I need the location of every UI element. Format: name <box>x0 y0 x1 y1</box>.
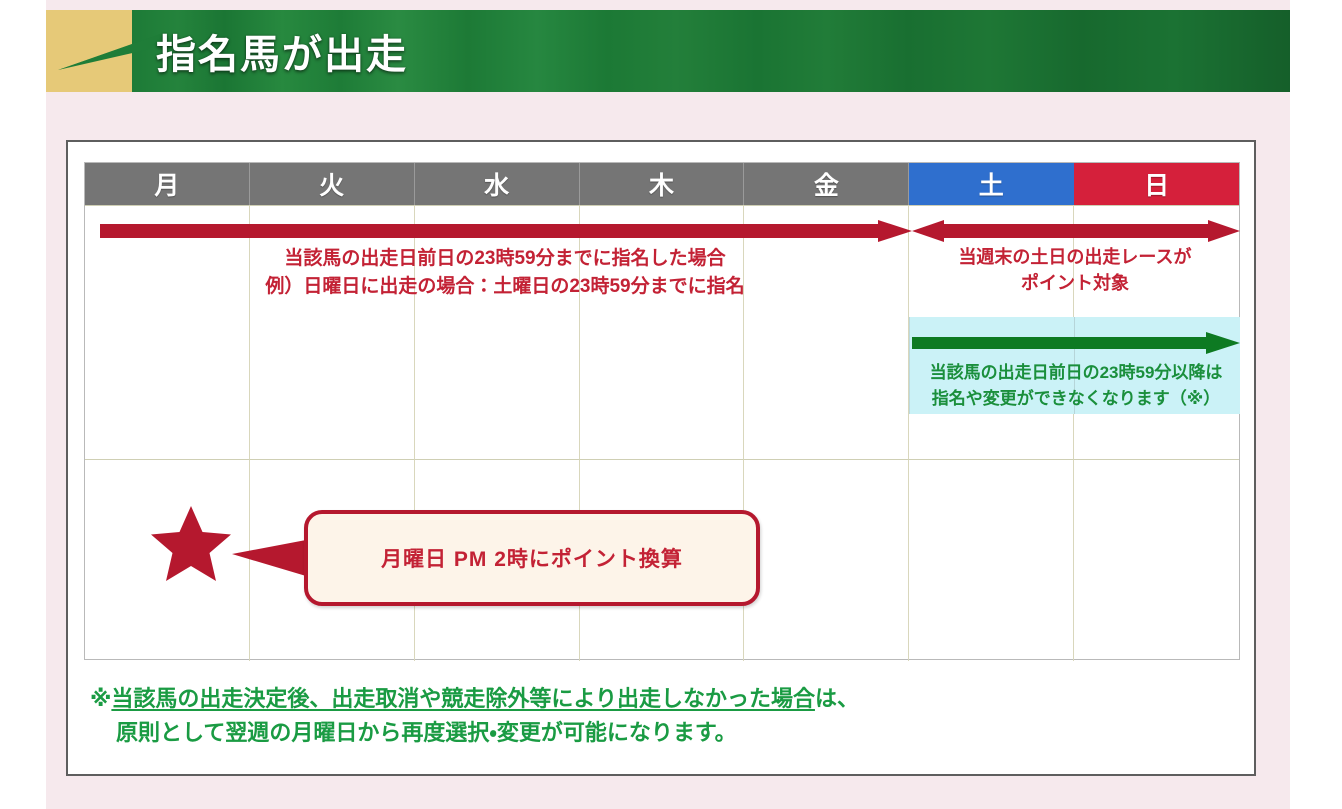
calendar-cell-bottom-sun <box>1074 459 1239 661</box>
footer-note-suffix: は、 <box>815 686 859 711</box>
callout-tail-icon <box>232 534 312 580</box>
footer-note-line-1: ※当該馬の出走決定後、出走取消や競走除外等により出走しなかった場合は、 <box>90 682 1230 716</box>
footer-note: ※当該馬の出走決定後、出走取消や競走除外等により出走しなかった場合は、 原則とし… <box>90 682 1230 750</box>
weekday-rule-text: 当該馬の出走日前日の23時59分までに指名した場合 例）日曜日に出走の場合：土曜… <box>100 245 910 300</box>
weekend-point-target-text: 当週末の土日の出走レースが ポイント対象 <box>912 244 1238 296</box>
footer-note-marker: ※ <box>90 686 111 711</box>
point-conversion-callout: 月曜日 PM 2時にポイント換算 <box>294 510 760 606</box>
calendar-cell-mid-tue <box>250 205 415 459</box>
footer-note-line-2: 原則として翌週の月曜日から再度選択・変更が可能になります。 <box>90 716 1230 750</box>
weekend-restriction-text: 当該馬の出走日前日の23時59分以降は 指名や変更ができなくなります（※） <box>914 360 1238 413</box>
calendar-cell-bottom-fri <box>744 459 909 661</box>
calendar-cell-mid-mon <box>85 205 250 459</box>
footer-note-underlined: 当該馬の出走決定後、出走取消や競走除外等により出走しなかった場合 <box>111 686 815 711</box>
calendar-header-wed: 水 <box>415 163 580 205</box>
calendar-header-tue: 火 <box>250 163 415 205</box>
weekly-schedule-table: 月 火 水 木 金 土 日 <box>84 162 1240 660</box>
callout-text: 月曜日 PM 2時にポイント換算 <box>381 543 683 573</box>
calendar-header-fri: 金 <box>744 163 909 205</box>
page-header-banner: 指名馬が出走 <box>46 10 1290 92</box>
calendar-cell-mid-thu <box>580 205 745 459</box>
callout-box: 月曜日 PM 2時にポイント換算 <box>304 510 760 606</box>
content-card: 月 火 水 木 金 土 日 <box>66 140 1256 776</box>
calendar-header-mon: 月 <box>85 163 250 205</box>
calendar-cell-mid-fri <box>744 205 909 459</box>
calendar-header-thu: 木 <box>580 163 745 205</box>
calendar-header-sun: 日 <box>1074 163 1239 205</box>
page-title: 指名馬が出走 <box>156 10 408 92</box>
star-icon <box>148 502 234 586</box>
page-root: 指名馬が出走 月 火 水 木 金 土 日 <box>0 0 1342 809</box>
calendar-header-sat: 土 <box>909 163 1074 205</box>
calendar-cell-mid-wed <box>415 205 580 459</box>
calendar-cell-bottom-sat <box>909 459 1074 661</box>
